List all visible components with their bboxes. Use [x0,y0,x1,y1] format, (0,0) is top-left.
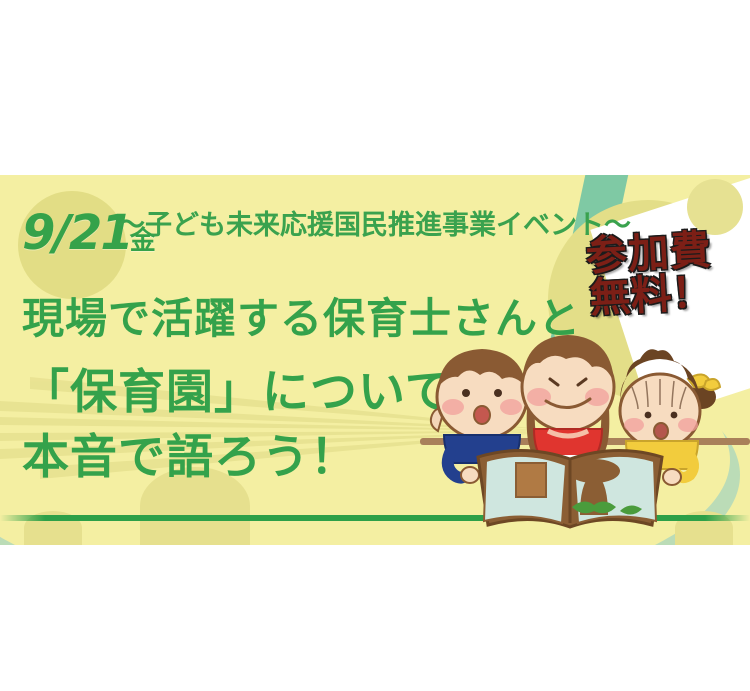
free-admission-badge-line-2: 無料！ [568,271,734,321]
headline-line-2: 「保育園」について [22,353,453,422]
event-subtitle: 〜子ども未来応援国民推進事業イベント〜 [118,203,631,242]
banner-page: 9/21金 〜子ども未来応援国民推進事業イベント〜 現場で活躍する保育士さんと … [0,0,750,691]
event-banner: 9/21金 〜子ども未来応援国民推進事業イベント〜 現場で活躍する保育士さんと … [0,175,750,545]
children-illustration [420,335,750,545]
headline-line-3: 本音で語ろう！ [22,418,358,487]
event-date-number: 9/21 [22,205,132,261]
open-book-illustration [478,450,662,527]
free-admission-badge: 参加費 無料！ [566,229,734,321]
